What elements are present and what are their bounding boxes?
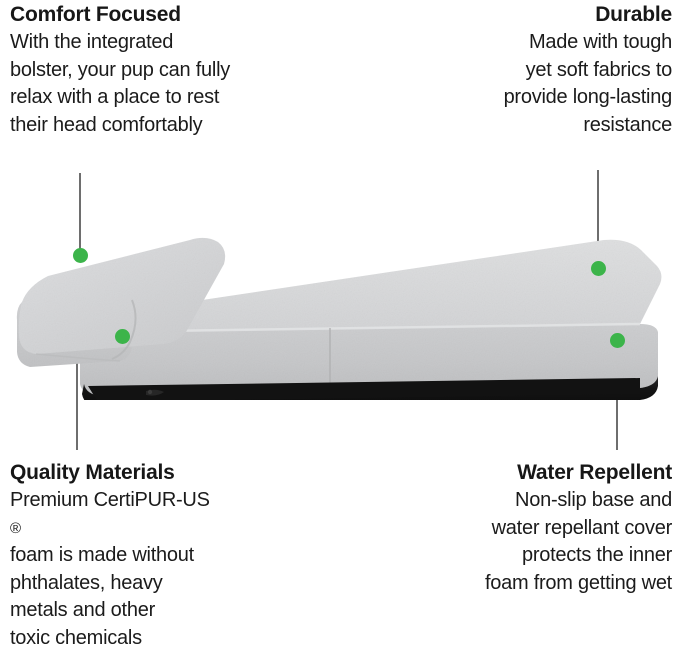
callout-body-water-repellent: Non-slip base and water repellant cover … xyxy=(485,487,672,597)
callout-body-line: ® foam is made without xyxy=(10,515,210,570)
callout-body-line: bolster, your pup can fully xyxy=(10,57,230,85)
callout-body-line: Premium CertiPUR-US xyxy=(10,487,210,515)
callout-body-line: their head comfortably xyxy=(10,112,230,140)
callout-body-quality-materials: Premium CertiPUR-US ® foam is made witho… xyxy=(10,487,210,646)
callout-body-line: toxic chemicals xyxy=(10,625,210,646)
durable-marker-dot xyxy=(591,261,606,276)
callout-body-line: Made with tough xyxy=(504,29,672,57)
callout-body-line: provide long-lasting xyxy=(504,84,672,112)
water-repellent-marker-dot xyxy=(610,333,625,348)
product-feature-infographic: Comfort Focused With the integrated bols… xyxy=(0,0,679,646)
callout-body-comfort-focused: With the integrated bolster, your pup ca… xyxy=(10,29,230,139)
callout-durable: Durable Made with tough yet soft fabrics… xyxy=(504,2,672,139)
callout-water-repellent: Water Repellent Non-slip base and water … xyxy=(485,460,672,597)
callout-body-line: With the integrated xyxy=(10,29,230,57)
callout-body-durable: Made with tough yet soft fabrics to prov… xyxy=(504,29,672,139)
callout-body-line: resistance xyxy=(504,112,672,140)
callout-title-water-repellent: Water Repellent xyxy=(485,460,672,486)
callout-body-line: foam from getting wet xyxy=(485,570,672,598)
callout-quality-materials: Quality Materials Premium CertiPUR-US ® … xyxy=(10,460,210,646)
callout-comfort-focused: Comfort Focused With the integrated bols… xyxy=(10,2,230,139)
callout-body-line: metals and other xyxy=(10,597,210,625)
callout-title-comfort-focused: Comfort Focused xyxy=(10,2,230,28)
callout-title-quality-materials: Quality Materials xyxy=(10,460,210,486)
callout-body-line: water repellant cover xyxy=(485,515,672,543)
callout-body-line: Non-slip base and xyxy=(485,487,672,515)
callout-body-line: phthalates, heavy xyxy=(10,570,210,598)
callout-body-line: protects the inner xyxy=(485,542,672,570)
comfort-focused-marker-dot xyxy=(73,248,88,263)
dog-bed-product-image xyxy=(0,228,679,400)
callout-title-durable: Durable xyxy=(504,2,672,28)
callout-body-line: yet soft fabrics to xyxy=(504,57,672,85)
callout-body-line: relax with a place to rest xyxy=(10,84,230,112)
quality-materials-marker-dot xyxy=(115,329,130,344)
